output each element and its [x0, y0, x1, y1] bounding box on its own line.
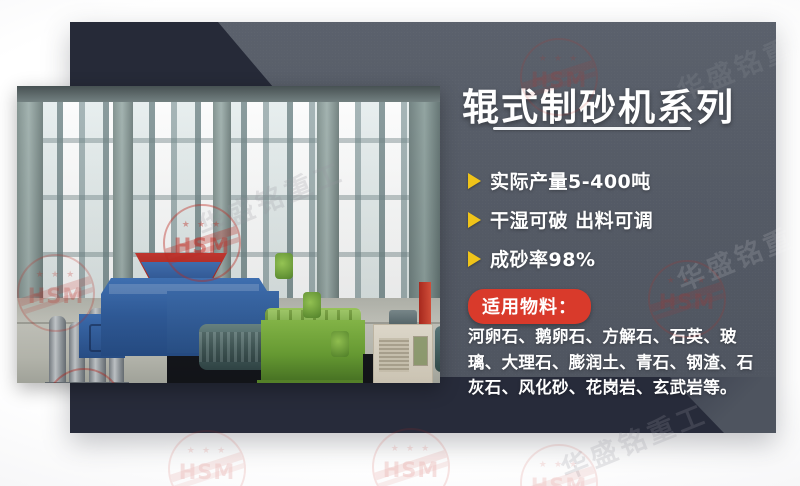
triangle-right-icon: [468, 212, 481, 228]
feature-item-3: 成砂率98%: [468, 245, 595, 272]
triangle-right-icon: [468, 251, 481, 267]
feature-item-2: 干湿可破 出料可调: [468, 206, 653, 233]
photo-color-grade: [17, 86, 440, 383]
product-info-column: 辊式制砂机系列 实际产量5-400吨 干湿可破 出料可调 成砂率98% 适用物料…: [462, 0, 762, 411]
materials-badge: 适用物料：: [468, 289, 591, 324]
feature-label: 实际产量5-400吨: [490, 167, 651, 194]
feature-item-1: 实际产量5-400吨: [468, 167, 651, 194]
title-divider: [493, 127, 691, 130]
page-title: 辊式制砂机系列: [462, 77, 758, 131]
materials-list: 河卵石、鹅卵石、方解石、石英、玻璃、大理石、膨润土、青石、钢渣、石灰石、风化砂、…: [468, 324, 758, 401]
triangle-right-icon: [468, 173, 481, 189]
feature-label: 成砂率98%: [490, 245, 595, 272]
feature-label: 干湿可破 出料可调: [490, 206, 653, 233]
product-photo: ★ ★ ★ HSM ★ ★ ★ HSM 华盛铭重工 ★ ★ ★ HSM 华盛铭重…: [17, 86, 440, 383]
screenshot-root: ★ ★ ★ HSM ★ ★ ★ HSM 华盛铭重工 ★ ★ ★ HSM 华盛铭重…: [0, 0, 800, 486]
